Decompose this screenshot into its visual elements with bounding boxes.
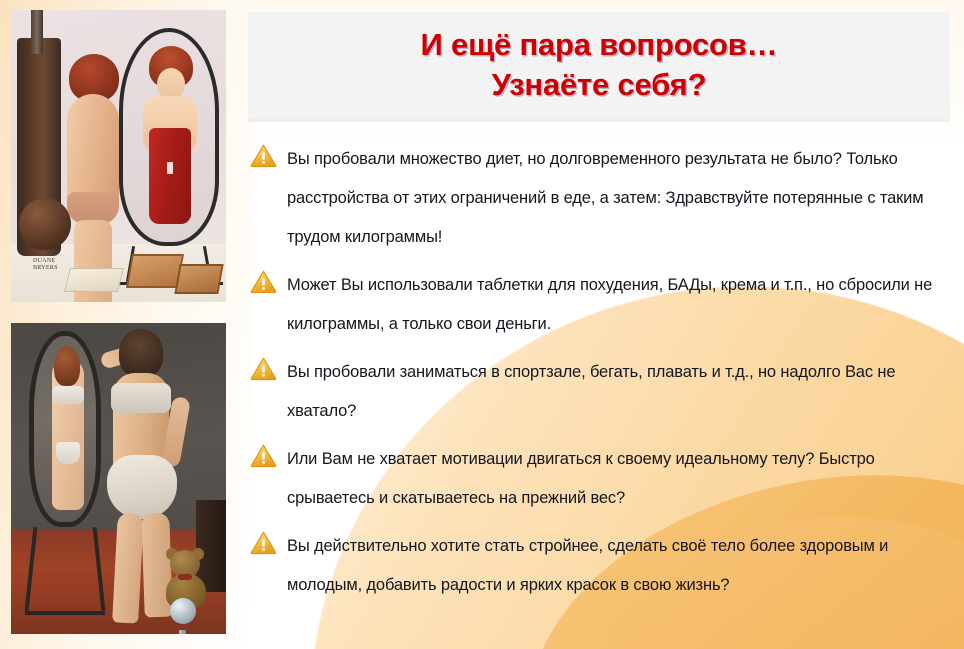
render-mirror xyxy=(29,331,101,527)
list-item-text: Вы пробовали заниматься в спортзале, бег… xyxy=(287,353,956,431)
render-figure-underwear xyxy=(107,455,177,519)
render-figure-left-leg xyxy=(112,512,144,623)
vintage-illustration-woman-at-mirror: DUANEBRYERS xyxy=(11,10,226,302)
render-reflection-bra xyxy=(52,386,84,404)
teddy-bow xyxy=(178,574,192,580)
illustration-signature: DUANEBRYERS xyxy=(33,258,58,272)
warning-triangle-icon xyxy=(250,143,277,168)
slide-title-box: И ещё пара вопросов… Узнаёте себя? xyxy=(248,12,950,118)
render-reflection-underwear xyxy=(56,442,80,464)
slide-title: И ещё пара вопросов… Узнаёте себя? xyxy=(421,25,778,105)
render-reflection-hair xyxy=(54,346,80,386)
list-item: Вы пробовали заниматься в спортзале, бег… xyxy=(250,353,956,431)
render-knob-post xyxy=(179,630,186,634)
illustration-mirror-reflection xyxy=(135,46,201,246)
render-glass-knob xyxy=(170,598,196,624)
warning-triangle-icon xyxy=(250,356,277,381)
render-mirror-stand xyxy=(25,527,105,615)
list-item-text: Может Вы использовали таблетки для похуд… xyxy=(287,266,956,344)
warning-triangle-icon xyxy=(250,530,277,555)
question-list: Вы пробовали множество диет, но долговре… xyxy=(250,140,956,614)
list-item: Или Вам не хватает мотивации двигаться к… xyxy=(250,440,956,518)
illustration-woman-figure xyxy=(63,54,125,276)
reflection-red-corset xyxy=(149,128,191,224)
presentation-slide: DUANEBRYERS xyxy=(0,0,964,649)
illustration-box-two xyxy=(174,264,223,294)
warning-triangle-icon xyxy=(250,269,277,294)
list-item: Может Вы использовали таблетки для похуд… xyxy=(250,266,956,344)
list-item-text: Или Вам не хватает мотивации двигаться к… xyxy=(287,440,956,518)
render-photo-woman-at-mirror xyxy=(11,323,226,634)
list-item-text: Вы пробовали множество диет, но долговре… xyxy=(287,140,956,257)
warning-triangle-icon xyxy=(250,443,277,468)
list-item: Вы пробовали множество диет, но долговре… xyxy=(250,140,956,257)
render-figure-bra xyxy=(111,383,171,413)
list-item: Вы действительно хотите стать стройнее, … xyxy=(250,527,956,605)
illustration-stove-pipe xyxy=(31,10,43,54)
list-item-text: Вы действительно хотите стать стройнее, … xyxy=(287,527,956,605)
illustration-stove xyxy=(17,38,61,256)
corset-price-tag xyxy=(167,162,173,174)
render-figure-hair xyxy=(119,329,163,377)
illustration-open-book xyxy=(64,268,124,292)
